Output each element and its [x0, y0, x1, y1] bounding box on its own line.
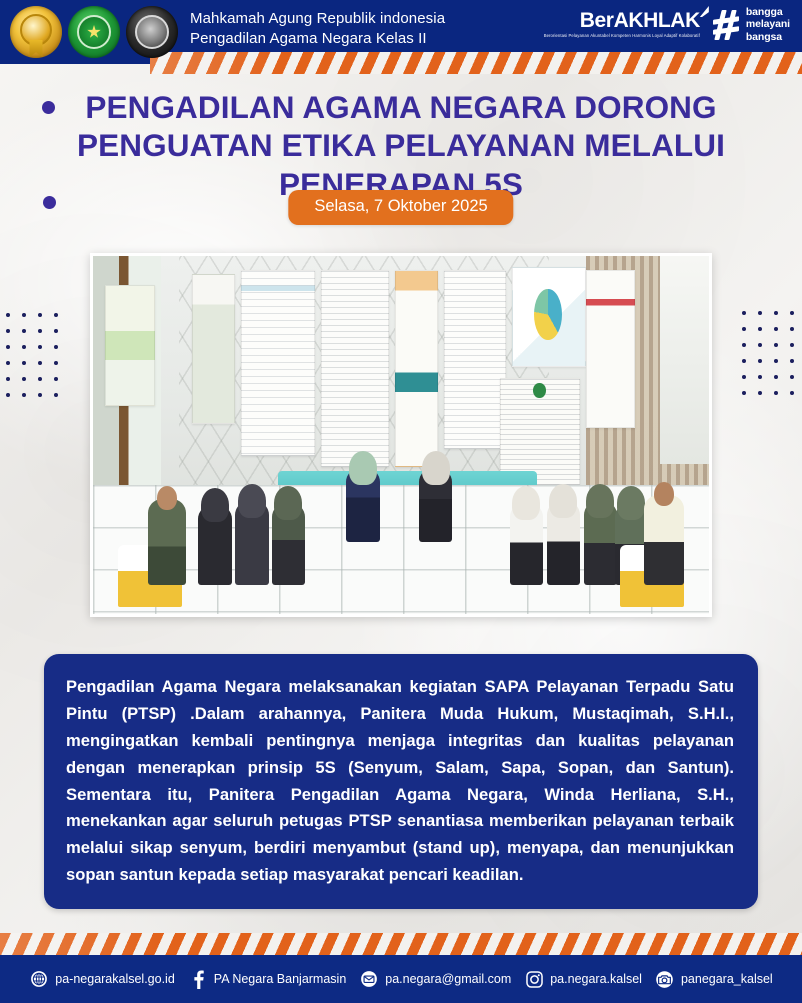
photo-person — [272, 503, 305, 585]
photo-wall-poster — [192, 274, 235, 424]
footer-contact-bar: pa-negarakalsel.go.id PA Negara Banjarma… — [0, 955, 802, 1003]
decorative-dot-large-bottom — [43, 196, 56, 209]
berakhlak-tagline: bangga melayani bangsa — [746, 6, 790, 43]
decorative-dot-large-top — [42, 101, 55, 114]
photo-wall-poster — [105, 285, 154, 407]
footer-instagram-label: pa.negara.kalsel — [550, 972, 642, 986]
institution-line-1: Mahkamah Agung Republik indonesia — [190, 9, 445, 29]
berakhlak-logo: BerAKHLAK Berorientasi Pelayanan Akuntab… — [544, 6, 790, 43]
institution-name: Mahkamah Agung Republik indonesia Pengad… — [190, 9, 445, 49]
instagram-icon — [524, 969, 544, 989]
institution-logo-row — [10, 6, 178, 58]
footer-facebook-label: PA Negara Banjarmasin — [214, 972, 346, 986]
decorative-dot-grid-left — [6, 313, 70, 409]
photo-person — [584, 501, 617, 585]
globe-icon — [29, 969, 49, 989]
footer-stripe-band — [0, 933, 802, 957]
berakhlak-word: BerAKHLAK — [544, 10, 700, 31]
facebook-icon — [188, 969, 208, 989]
photo-person — [235, 501, 269, 585]
photo-person — [198, 505, 232, 585]
footer-item-facebook[interactable]: PA Negara Banjarmasin — [188, 969, 346, 989]
footer-camera-label: panegara_kalsel — [681, 972, 773, 986]
header-stripe-band — [150, 52, 802, 74]
photo-person — [148, 499, 186, 585]
camera-icon — [655, 969, 675, 989]
photo-wall-poster — [444, 270, 506, 449]
photo-wall-poster — [395, 270, 438, 467]
photo-person — [547, 501, 580, 585]
article-body-text: Pengadilan Agama Negara melaksanakan keg… — [44, 654, 758, 909]
footer-website-label: pa-negarakalsel.go.id — [55, 972, 175, 986]
email-icon — [359, 969, 379, 989]
wbk-gold-award-logo — [10, 6, 62, 58]
event-photo-frame — [90, 253, 712, 617]
zona-integritas-dark-logo — [126, 6, 178, 58]
photo-wall-poster — [321, 270, 389, 467]
berakhlak-tagline-line-1: bangga — [746, 6, 790, 18]
berakhlak-subtitle: Berorientasi Pelayanan Akuntabel Kompete… — [544, 33, 700, 39]
event-photo — [93, 256, 709, 614]
page-title: PENGADILAN AGAMA NEGARA DORONG PENGUATAN… — [60, 88, 742, 203]
footer-item-email[interactable]: pa.negara@gmail.com — [359, 969, 511, 989]
photo-person — [644, 495, 684, 585]
footer-item-camera[interactable]: panegara_kalsel — [655, 969, 773, 989]
date-badge: Selasa, 7 Oktober 2025 — [288, 190, 513, 225]
poster-canvas: Mahkamah Agung Republik indonesia Pengad… — [0, 0, 802, 1003]
berakhlak-wordmark: BerAKHLAK Berorientasi Pelayanan Akuntab… — [544, 10, 700, 39]
berakhlak-tagline-line-3: bangsa — [746, 31, 790, 43]
photo-wall-poster — [241, 270, 315, 456]
berakhlak-tagline-line-2: melayani — [746, 18, 790, 30]
mahkamah-agung-green-logo — [68, 6, 120, 58]
footer-item-website[interactable]: pa-negarakalsel.go.id — [29, 969, 175, 989]
photo-wall-poster — [586, 270, 635, 428]
photo-wall-notice — [500, 378, 580, 485]
berakhlak-hash-icon — [713, 10, 739, 40]
title-line-2: PENGUATAN ETIKA PELAYANAN MELALUI — [77, 127, 725, 163]
photo-person — [419, 468, 452, 542]
footer-email-label: pa.negara@gmail.com — [385, 972, 511, 986]
footer-item-instagram[interactable]: pa.negara.kalsel — [524, 969, 642, 989]
institution-line-2: Pengadilan Agama Negara Kelas II — [190, 29, 445, 49]
photo-wall-screen — [512, 267, 586, 367]
decorative-dot-grid-right — [742, 311, 802, 407]
photo-person — [346, 468, 380, 542]
title-line-1: PENGADILAN AGAMA NEGARA DORONG — [85, 89, 716, 125]
photo-person — [510, 503, 543, 585]
